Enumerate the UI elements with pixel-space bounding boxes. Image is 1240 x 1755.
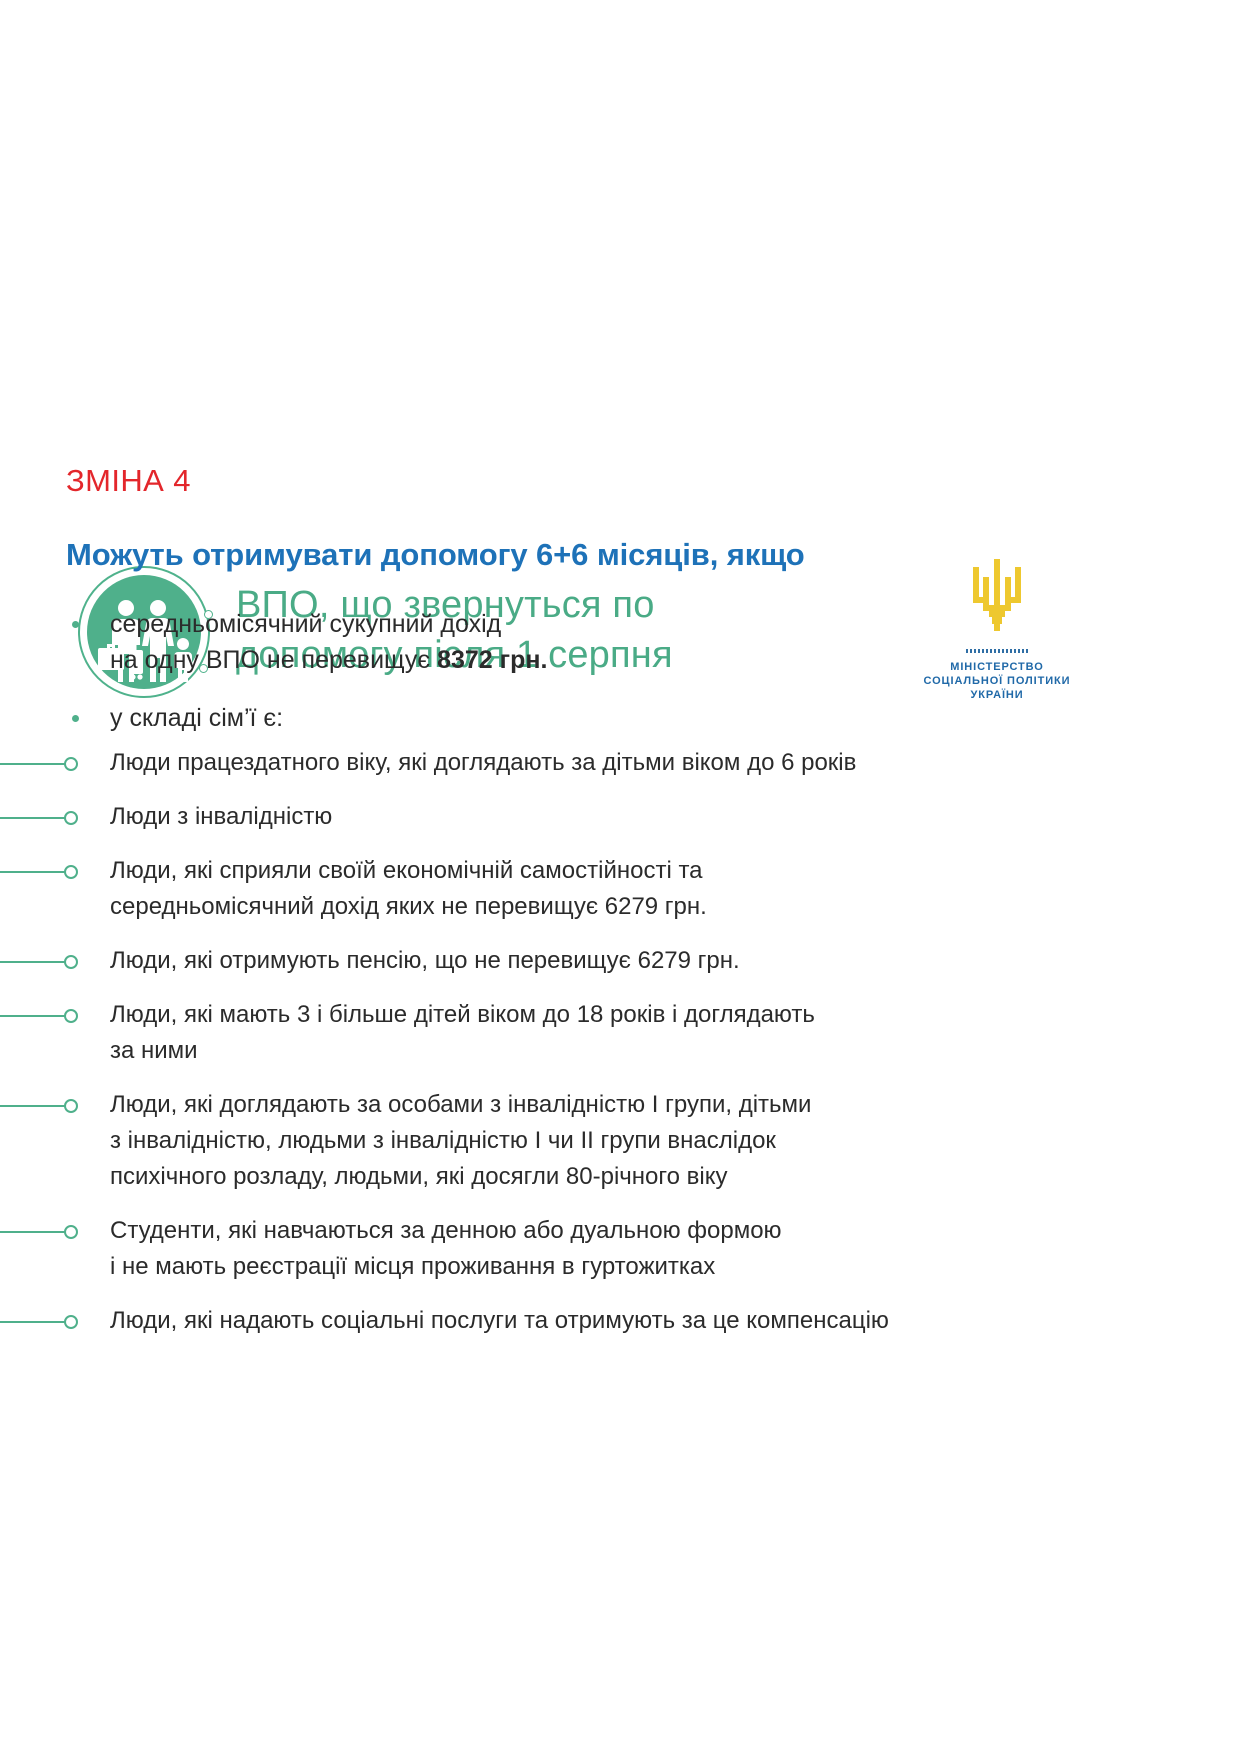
bullet-line-1: у складі сім’ї є: bbox=[110, 700, 1066, 736]
marker-line-icon bbox=[0, 1105, 66, 1107]
infographic-page: ВПО, що звернуться по допомогу після 1 с… bbox=[0, 0, 1240, 1755]
list-item: Люди, які мають 3 і більше дітей віком д… bbox=[0, 997, 1240, 1069]
marker-circle-icon bbox=[64, 757, 78, 771]
marker-circle-icon bbox=[64, 955, 78, 969]
marker-circle-icon bbox=[64, 1099, 78, 1113]
marker-circle-icon bbox=[64, 1009, 78, 1023]
marker-line-icon bbox=[0, 1015, 66, 1017]
list-item-text: Люди працездатного віку, які доглядають … bbox=[110, 745, 1200, 781]
list-item-text: Люди, які сприяли своїй економічній само… bbox=[110, 853, 1200, 925]
list-item-text: Люди, які надають соціальні послуги та о… bbox=[110, 1303, 1200, 1339]
list-item-line: середньомісячний дохід яких не перевищує… bbox=[110, 889, 1200, 925]
page-header: ВПО, що звернуться по допомогу після 1 с… bbox=[0, 275, 1240, 455]
list-item-line: психічного розладу, людьми, які досягли … bbox=[110, 1159, 1200, 1195]
bullet-line-2-prefix: на одну ВПО не перевищує bbox=[110, 646, 437, 674]
condition-bullet-list: середньомісячний сукупний дохід на одну … bbox=[66, 606, 1066, 758]
list-item-line: за ними bbox=[110, 1033, 1200, 1069]
marker-circle-icon bbox=[64, 865, 78, 879]
marker-circle-icon bbox=[64, 1315, 78, 1329]
list-item-line: Люди, які мають 3 і більше дітей віком д… bbox=[110, 997, 1200, 1033]
bullet-dot-icon bbox=[72, 715, 79, 722]
list-item-text: Люди з інвалідністю bbox=[110, 799, 1200, 835]
change-label: ЗМІНА 4 bbox=[66, 462, 191, 500]
list-item-line: Люди, які сприяли своїй економічній само… bbox=[110, 853, 1200, 889]
list-item-line: Люди, які надають соціальні послуги та о… bbox=[110, 1303, 1200, 1339]
list-item-line: Студенти, які навчаються за денною або д… bbox=[110, 1213, 1200, 1249]
list-item: Люди, які надають соціальні послуги та о… bbox=[0, 1303, 1240, 1339]
marker-line-icon bbox=[0, 1231, 66, 1233]
marker-line-icon bbox=[0, 1321, 66, 1323]
marker-circle-icon bbox=[64, 811, 78, 825]
list-item-line: з інвалідністю, людьми з інвалідністю І … bbox=[110, 1123, 1200, 1159]
list-item-line: Люди працездатного віку, які доглядають … bbox=[110, 745, 1200, 781]
list-item-text: Люди, які мають 3 і більше дітей віком д… bbox=[110, 997, 1200, 1069]
marker-line-icon bbox=[0, 763, 66, 765]
list-item: Люди з інвалідністю bbox=[0, 799, 1240, 835]
list-item-line: Люди, які отримують пенсію, що не переви… bbox=[110, 943, 1200, 979]
section-subtitle: Можуть отримувати допомогу 6+6 місяців, … bbox=[66, 535, 805, 575]
bullet-line-2: на одну ВПО не перевищує 8372 грн. bbox=[110, 642, 1066, 678]
list-item-text: Люди, які отримують пенсію, що не переви… bbox=[110, 943, 1200, 979]
list-item: Студенти, які навчаються за денною або д… bbox=[0, 1213, 1240, 1285]
eligibility-list: Люди працездатного віку, які доглядають … bbox=[0, 745, 1240, 1357]
marker-circle-icon bbox=[64, 1225, 78, 1239]
condition-bullet-income: середньомісячний сукупний дохід на одну … bbox=[66, 606, 1066, 678]
condition-bullet-family: у складі сім’ї є: bbox=[66, 700, 1066, 736]
marker-line-icon bbox=[0, 871, 66, 873]
list-item-text: Люди, які доглядають за особами з інвалі… bbox=[110, 1087, 1200, 1195]
list-item-line: Люди, які доглядають за особами з інвалі… bbox=[110, 1087, 1200, 1123]
marker-line-icon bbox=[0, 817, 66, 819]
list-item: Люди працездатного віку, які доглядають … bbox=[0, 745, 1240, 781]
marker-line-icon bbox=[0, 961, 66, 963]
list-item: Люди, які отримують пенсію, що не переви… bbox=[0, 943, 1240, 979]
bullet-line-1: середньомісячний сукупний дохід bbox=[110, 606, 1066, 642]
list-item-line: і не мають реєстрації місця проживання в… bbox=[110, 1249, 1200, 1285]
list-item-line: Люди з інвалідністю bbox=[110, 799, 1200, 835]
list-item: Люди, які сприяли своїй економічній само… bbox=[0, 853, 1240, 925]
bullet-amount: 8372 грн. bbox=[437, 646, 547, 674]
list-item: Люди, які доглядають за особами з інвалі… bbox=[0, 1087, 1240, 1195]
bullet-dot-icon bbox=[72, 621, 79, 628]
list-item-text: Студенти, які навчаються за денною або д… bbox=[110, 1213, 1200, 1285]
